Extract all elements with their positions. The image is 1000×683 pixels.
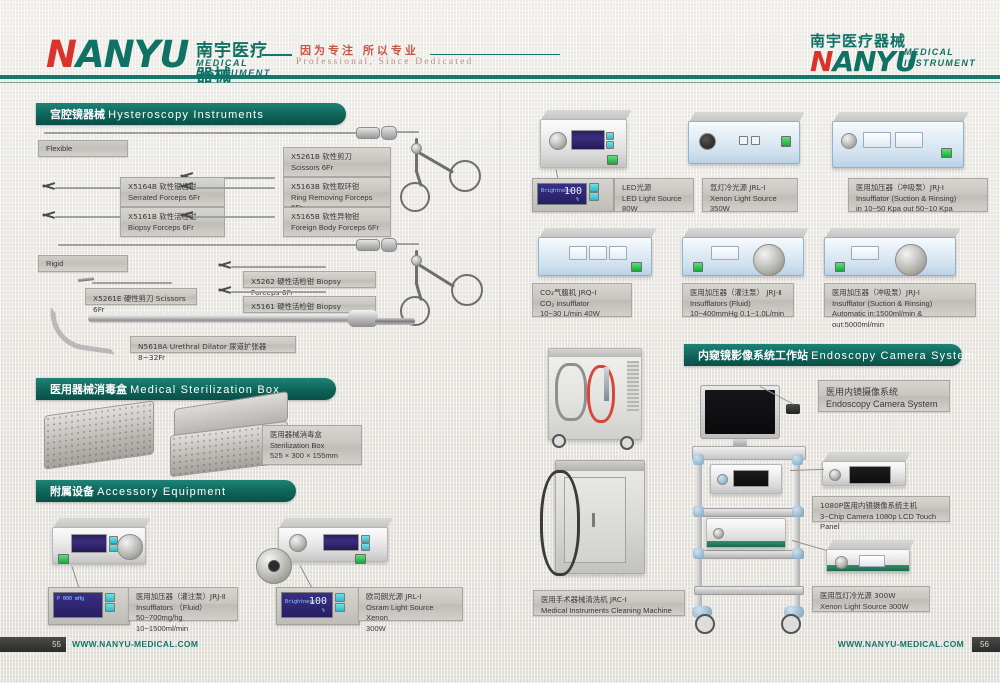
caption-xenon-300w-zh: 医用氙灯冷光源 300W	[820, 591, 922, 602]
device-osram-screen	[323, 534, 359, 551]
trolley-camera-unit-knob[interactable]	[717, 474, 728, 485]
caption-led-zh: LED光源	[622, 183, 686, 194]
caption-biopsy-forceps-flex-en: Biopsy Forceps 6Fr	[128, 223, 217, 234]
device-osram-port	[289, 534, 307, 552]
cleaning-machine-lower-handle[interactable]	[592, 513, 595, 527]
brand-letter-n: N	[46, 33, 76, 76]
device-osram-btn-2[interactable]	[361, 543, 370, 551]
device-insufflator-suction-2-pump[interactable]	[895, 244, 927, 276]
handle-arm-a-2	[416, 262, 455, 288]
section-hysteroscopy-zh: 宫腔镜器械	[50, 108, 105, 121]
closeup-osram-value: 100	[309, 596, 327, 607]
handle-arm-a	[416, 150, 454, 173]
page-spine	[499, 90, 501, 630]
device-1080p-screen	[849, 466, 891, 484]
caption-rigid-biopsy-1: X5262 硬性活检钳 Biopsy Forceps 6Fr	[243, 271, 376, 288]
device-insufflator-suction-1-screen	[863, 132, 891, 148]
instrument-shaft-foreign-body	[193, 216, 275, 218]
brand-subtitle-line1: MEDICAL	[904, 47, 982, 58]
sterilization-box-perforations	[45, 401, 153, 468]
closeup-insufflator-fluid-btn-2	[105, 603, 115, 612]
caption-co2-en: CO₂ insufflator	[540, 299, 624, 310]
logo-left: NANYU 南宇医疗器械 MEDICAL INSTRUMENT	[46, 36, 276, 76]
trolley-shelf-4	[694, 586, 804, 595]
trolley-joint	[792, 454, 803, 465]
caption-urethral-dilator: N5618A Urethral Dilator 尿道扩张器 8~32Fr	[130, 336, 296, 353]
device-insufflator-suction-2-screen	[851, 246, 879, 260]
section-header-accessory: 附属设备 Accessory Equipment	[36, 480, 296, 502]
trolley-joint	[693, 454, 704, 465]
caption-co2-spec: 10~30 L/min 40W	[540, 309, 624, 320]
caption-co2-insufflator: CO₂气腹机 JRQ-Ⅰ CO₂ insufflator 10~30 L/min…	[532, 283, 632, 317]
endoscopy-monitor	[700, 385, 780, 439]
device-insufflator-fluid	[52, 518, 144, 564]
trolley-shelf-top	[692, 446, 806, 460]
section-header-sterilization: 医用器械消毒盒 Medical Sterilization Box	[36, 378, 336, 400]
catalog-page: NANYU 南宇医疗器械 MEDICAL INSTRUMENT 因为专注 所以专…	[0, 0, 1000, 683]
rigid-scope-hub-2	[381, 238, 397, 252]
section-camera-zh: 内窥镜影像系统工作站	[698, 349, 808, 362]
closeup-osram-btn-1	[335, 593, 345, 602]
caption-insufflator-fluid-2-zh: 医用加压器（灌注泵） JRJ-Ⅱ	[690, 288, 786, 299]
caption-xenon-300w-en: Xenon Light Source 300W	[820, 602, 922, 613]
instrument-shaft-rigid-scissors	[92, 282, 172, 284]
brand-subtitle-line2: INSTRUMENT	[904, 58, 982, 69]
caption-insufflator-fluid-2: 医用加压器（灌注泵） JRJ-Ⅱ Insufflators (Fluid) 10…	[682, 283, 794, 317]
group-label-rigid-text: Rigid	[46, 259, 63, 268]
device-insufflator-suction-2	[824, 228, 954, 276]
closeup-led-value: 100	[564, 186, 582, 197]
device-led-btn-1[interactable]	[606, 132, 614, 140]
device-insufflator-suction-1-screen-2	[895, 132, 923, 148]
logo-right: 南宇医疗器械 NANYU MEDICAL INSTRUMENT	[792, 30, 982, 78]
device-co2-power[interactable]	[631, 262, 642, 272]
caption-insufflator-suction-2-en: Insufflator (Suction & Rinsing)	[832, 299, 968, 310]
closeup-led-btn-1	[589, 183, 599, 192]
rigid-scope-shaft	[58, 244, 358, 246]
instrument-jaw-rigid-biopsy-2	[218, 286, 232, 294]
brand-wordmark-rest: ANYU	[76, 33, 188, 76]
closeup-osram-lcd: Brightness 100 %	[281, 592, 333, 618]
device-co2-face	[538, 237, 652, 276]
device-1080p-camera-unit	[822, 452, 904, 486]
caption-serrated-forceps-en: Serrated Forceps 6Fr	[128, 193, 217, 204]
scissors-handle-lower	[405, 248, 500, 328]
caption-insufflator-suction-2-spec: Automatic in:1500ml/min & out:5000ml/min	[832, 309, 968, 330]
sterilization-box-closed	[44, 408, 154, 463]
trolley-shelf-2	[694, 508, 804, 517]
camera-head	[786, 404, 800, 414]
caption-insufflator-suction-1-en: Insufflator (Suction & Rinsing)	[856, 194, 980, 205]
footer-page-number-left: 55	[52, 640, 61, 649]
scissors-handle-upper	[405, 136, 495, 216]
caption-cleaning-machine-en: Medical Instruments Cleaning Machine	[541, 606, 677, 617]
caption-insufflator-fluid-2-spec: 10~400mmHg 0.1~1.0L/min	[690, 309, 786, 320]
footer-page-tab-left: 55	[0, 637, 66, 652]
instrument-jaw-ring	[180, 182, 194, 190]
caption-rigid-biopsy-1-text: X5262 硬性活检钳 Biopsy Forceps 6Fr	[251, 277, 341, 297]
endoscopy-monitor-screen	[705, 390, 775, 434]
device-insufflator-fluid-face	[52, 527, 146, 564]
closeup-led-lcd: Brightness 100 %	[537, 183, 587, 205]
caption-sterilization-box: 医用器械消毒盒 Sterilization Box 525 × 300 × 15…	[262, 425, 362, 465]
device-osram-btn-1[interactable]	[361, 535, 370, 543]
trolley-joint	[693, 506, 704, 517]
device-osram-power[interactable]	[355, 554, 366, 564]
closeup-led: Brightness 100 %	[532, 178, 614, 212]
device-xenon-btn-1[interactable]	[739, 136, 748, 145]
device-led-screen	[571, 130, 605, 150]
device-insufflator-suction-2-power[interactable]	[835, 262, 845, 272]
cleaning-machine-hose-red	[587, 365, 615, 423]
caption-ring-forceps-zh: X5163B 软性取环钳	[291, 182, 383, 193]
trolley-camera-unit-face	[710, 464, 782, 494]
device-led-light-source	[540, 110, 625, 168]
cleaning-machine-lower-top	[556, 461, 644, 471]
device-insufflator-fluid-2-power[interactable]	[693, 262, 703, 272]
trolley-caster-right	[781, 614, 801, 634]
caption-xenon-300w: 医用氙灯冷光源 300W Xenon Light Source 300W	[812, 586, 930, 612]
flexible-scope-hub-2	[381, 126, 397, 140]
device-insufflator-suction-2-face	[824, 237, 956, 276]
closeup-insufflator-fluid-lcd-text: P 000 mHg	[57, 596, 84, 602]
device-1080p-knob[interactable]	[829, 469, 841, 481]
caption-foreign-body-forceps: X5165B 软性异物钳 Foreign Body Forceps 6Fr	[283, 207, 391, 237]
device-insufflator-fluid-2-screen	[711, 246, 739, 260]
handle-pivot-2	[411, 255, 422, 266]
trolley-joint	[792, 548, 803, 559]
dilator-body	[88, 314, 368, 323]
section-header-hysteroscopy-text: 宫腔镜器械 Hysteroscopy Instruments	[50, 106, 264, 122]
cleaning-machine-upper-vent	[627, 361, 639, 411]
flexible-scope-shaft	[44, 132, 359, 134]
cleaning-machine-upper	[548, 348, 642, 440]
closeup-insufflator-fluid-btn-1	[105, 593, 115, 602]
dilator-knob	[348, 310, 378, 327]
section-camera-en: Endoscopy Camera System	[811, 350, 975, 362]
caption-endoscopy-camera-system-zh: 医用内镜摄像系统	[826, 388, 942, 399]
instrument-jaw-serrated	[42, 182, 56, 190]
caption-1080p-camera-zh: 1080P医用内镜摄像系统主机	[820, 501, 942, 512]
caster-wheel	[620, 436, 634, 450]
section-header-hysteroscopy: 宫腔镜器械 Hysteroscopy Instruments	[36, 103, 346, 125]
caster-wheel	[552, 434, 566, 448]
trolley-camera-unit-screen	[733, 470, 769, 487]
device-co2-screen-3	[609, 246, 627, 260]
device-osram-light-source	[278, 518, 386, 562]
caption-osram: 欧司朗光源 JRL-Ⅰ Osram Light Source Xenon 300…	[358, 587, 463, 621]
cleaning-machine-hose-gray	[555, 363, 587, 421]
caption-insufflator-fluid-spec: 50~700mg/hg 10~1500ml/min	[136, 613, 230, 634]
device-1080p-face	[822, 461, 906, 486]
group-label-flexible-text: Flexible	[46, 144, 72, 153]
device-insufflator-suction-1-face	[832, 121, 964, 168]
caption-insufflator-suction-2-zh: 医用加压器（冲吸泵）JRJ-Ⅰ	[832, 288, 968, 299]
device-osram-face	[278, 527, 388, 562]
caption-insufflator-suction-1: 医用加压器（冲吸泵）JRJ-Ⅰ Insufflator (Suction & R…	[848, 178, 988, 212]
closeup-osram-unit: %	[322, 608, 325, 614]
trolley-light-source-unit-stripe	[707, 541, 785, 547]
caption-led-en: LED Light Source	[622, 194, 686, 205]
caption-scissors: X5261B 软性剪刀 Scissors 6Fr	[283, 147, 391, 177]
caption-xenon-en: Xenon Light Source	[710, 194, 790, 205]
section-sterilization-en: Medical Sterilization Box	[130, 384, 280, 396]
trolley-light-source-unit-face	[706, 518, 786, 548]
dilator-extension	[375, 318, 415, 325]
handle-ring-a-2	[451, 274, 483, 306]
device-insufflator-suction-1-port	[841, 133, 857, 149]
instrument-shaft-rigid-biopsy-1	[231, 266, 326, 268]
caption-1080p-camera: 1080P医用内镜摄像系统主机 3~Chip Camera 1080p LCD …	[812, 496, 950, 522]
cleaning-machine-spray-gun	[604, 367, 609, 401]
caption-insufflator-fluid: 医用加压器（灌注泵）JRJ-Ⅱ Insufflators （Fluid） 50~…	[128, 587, 238, 621]
device-insufflator-fluid-pump-knob[interactable]	[117, 534, 143, 560]
device-xenon-power[interactable]	[781, 136, 791, 147]
device-xenon-btn-2[interactable]	[751, 136, 760, 145]
device-insufflator-fluid-2-pump[interactable]	[753, 244, 785, 276]
slogan-en: Professional, Since Dedicated	[296, 57, 474, 67]
device-xenon-port	[699, 133, 716, 150]
flexible-scope-elbow	[395, 131, 419, 133]
caption-ring-forceps: X5163B 软性取环钳 Ring Removing Forceps 6Fr	[283, 177, 391, 207]
device-led-btn-2[interactable]	[606, 141, 614, 149]
cleaning-machine-upper-casters	[548, 434, 640, 450]
caption-insufflator-suction-1-spec: in 10~50 Kpa out 50~10 Kpa	[856, 204, 980, 215]
device-co2-screen-2	[589, 246, 607, 260]
brand-subtitle-en: MEDICAL INSTRUMENT	[196, 58, 276, 78]
caption-xenon-spec: 350W	[710, 204, 790, 215]
device-insufflator-fluid-2	[682, 228, 802, 276]
instrument-jaw-rigid-biopsy-1	[218, 261, 232, 269]
trolley-caster-left	[695, 614, 715, 634]
device-xenon-300w-face	[826, 549, 910, 572]
device-insufflator-fluid-2-face	[682, 237, 804, 276]
caption-insufflator-suction-1-zh: 医用加压器（冲吸泵）JRJ-Ⅰ	[856, 183, 980, 194]
trolley-light-source-unit	[706, 520, 784, 548]
instrument-jaw-biopsy-flex	[42, 211, 56, 219]
caption-endoscopy-camera-system-en: Endoscopy Camera System	[826, 399, 942, 410]
leader-line-1080p	[790, 469, 824, 471]
caption-foreign-body-forceps-zh: X5165B 软性异物钳	[291, 212, 383, 223]
caption-sterilization-box-size: 525 × 300 × 155mm	[270, 451, 354, 462]
caption-led-spec: 80W	[622, 204, 686, 215]
section-accessory-zh: 附属设备	[50, 485, 94, 498]
trolley-joint	[792, 506, 803, 517]
caption-insufflator-fluid-en: Insufflators （Fluid）	[136, 603, 230, 614]
caption-urethral-dilator-text: N5618A Urethral Dilator 尿道扩张器 8~32Fr	[138, 342, 266, 362]
caption-biopsy-forceps-flex: X5161B 软性活检钳 Biopsy Forceps 6Fr	[120, 207, 225, 237]
cleaning-machine-upper-top	[549, 349, 641, 357]
group-label-flexible: Flexible	[38, 140, 128, 157]
endoscopy-trolley	[692, 446, 804, 628]
caption-insufflator-fluid-zh: 医用加压器（灌注泵）JRJ-Ⅱ	[136, 592, 230, 603]
section-header-camera-system-text: 内窥镜影像系统工作站 Endoscopy Camera System	[698, 347, 975, 363]
device-led-power[interactable]	[607, 155, 618, 165]
cleaning-machine-lower-hose	[540, 470, 580, 576]
handle-ring-b	[400, 182, 430, 212]
caption-scissors-zh: X5261B 软性剪刀	[291, 152, 383, 163]
footer-url-left[interactable]: WWW.NANYU-MEDICAL.COM	[72, 639, 198, 649]
trolley-camera-unit	[710, 466, 780, 494]
handle-pivot	[411, 143, 422, 154]
caption-led-light-source: LED光源 LED Light Source 80W	[614, 178, 694, 212]
caption-sterilization-box-zh: 医用器械消毒盒	[270, 430, 354, 441]
caption-foreign-body-forceps-en: Foreign Body Forceps 6Fr	[291, 223, 383, 234]
flexible-scope-hub	[356, 127, 380, 139]
caption-cleaning-machine-zh: 医用手术器械清洗机 JRC-Ⅰ	[541, 595, 677, 606]
device-insufflator-fluid-power[interactable]	[58, 554, 69, 564]
footer-page-number-right: 56	[980, 640, 989, 649]
caption-serrated-forceps: X5164B 软性锯齿钳 Serrated Forceps 6Fr	[120, 177, 225, 207]
instrument-shaft-rigid-biopsy-2	[231, 291, 326, 293]
caption-osram-en: Osram Light Source Xenon	[366, 603, 455, 624]
closeup-osram-btn-2	[335, 603, 345, 612]
caption-1080p-camera-en: 3~Chip Camera 1080p LCD Touch Panel	[820, 512, 942, 533]
device-insufflator-fluid-screen	[71, 534, 107, 553]
slogan-dash-right	[430, 54, 560, 55]
device-xenon-300w-unit	[826, 540, 908, 572]
device-led-face	[540, 119, 627, 168]
device-xenon-300w-port	[835, 556, 848, 569]
section-accessory-en: Accessory Equipment	[97, 486, 226, 498]
slogan-zh: 因为专注 所以专业	[300, 42, 419, 58]
handle-ring-a	[449, 160, 481, 192]
section-header-accessory-text: 附属设备 Accessory Equipment	[50, 483, 226, 499]
section-sterilization-zh: 医用器械消毒盒	[50, 383, 127, 396]
instrument-shaft-ring	[193, 187, 275, 189]
device-xenon-light-source	[688, 112, 798, 164]
footer-url-right[interactable]: WWW.NANYU-MEDICAL.COM	[838, 639, 964, 649]
footer-page-tab-right: 56	[972, 637, 1000, 652]
device-xenon-face	[688, 121, 800, 164]
caption-xenon-zh: 氙灯冷光源 JRL-Ⅰ	[710, 183, 790, 194]
sterilization-box-closed-lid	[44, 400, 154, 469]
device-xenon-300w-screen	[859, 555, 885, 567]
trolley-light-source-port	[713, 528, 724, 539]
caption-co2-zh: CO₂气腹机 JRQ-Ⅰ	[540, 288, 624, 299]
rigid-scope-hub	[356, 239, 380, 251]
caption-insufflator-fluid-2-en: Insufflators (Fluid)	[690, 299, 786, 310]
caption-osram-zh: 欧司朗光源 JRL-Ⅰ	[366, 592, 455, 603]
device-insufflator-suction-1-power[interactable]	[941, 148, 952, 158]
osram-lamp-center	[268, 560, 280, 572]
brand-letter-n-right: N	[810, 45, 832, 78]
slogan-dash-left	[262, 54, 292, 56]
closeup-led-unit: %	[576, 197, 579, 203]
caption-osram-spec: 300W	[366, 624, 455, 635]
trolley-shelf-3	[694, 550, 804, 559]
caption-sterilization-box-en: Sterilization Box	[270, 441, 354, 452]
closeup-osram: Brightness 100 %	[276, 587, 360, 625]
closeup-insufflator-fluid-lcd: P 000 mHg	[53, 592, 103, 618]
caption-scissors-en: Scissors 6Fr	[291, 163, 383, 174]
section-header-sterilization-text: 医用器械消毒盒 Medical Sterilization Box	[50, 381, 280, 397]
section-hysteroscopy-en: Hysteroscopy Instruments	[108, 109, 264, 121]
group-label-rigid: Rigid	[38, 255, 128, 272]
caption-xenon-light-source: 氙灯冷光源 JRL-Ⅰ Xenon Light Source 350W	[702, 178, 798, 212]
device-insufflator-suction-1	[832, 112, 962, 168]
device-co2-screen-1	[569, 246, 587, 260]
device-co2-insufflator	[538, 228, 650, 276]
header-rule-thin	[0, 82, 1000, 83]
closeup-insufflator-fluid: P 000 mHg	[48, 587, 130, 625]
section-header-camera-system: 内窥镜影像系统工作站 Endoscopy Camera System	[684, 344, 962, 366]
caption-endoscopy-camera-system: 医用内镜摄像系统 Endoscopy Camera System	[818, 380, 950, 412]
caption-cleaning-machine: 医用手术器械清洗机 JRC-Ⅰ Medical Instruments Clea…	[533, 590, 685, 616]
trolley-joint	[693, 548, 704, 559]
rigid-scope-elbow	[395, 243, 419, 245]
monitor-stand	[733, 439, 747, 446]
caption-insufflator-suction-2: 医用加压器（冲吸泵）JRJ-Ⅰ Insufflator (Suction & R…	[824, 283, 976, 317]
instrument-jaw-foreign-body	[180, 211, 194, 219]
brand-subtitle-right: MEDICAL INSTRUMENT	[904, 47, 982, 69]
closeup-led-btn-2	[589, 192, 599, 201]
device-led-knob[interactable]	[549, 132, 567, 150]
